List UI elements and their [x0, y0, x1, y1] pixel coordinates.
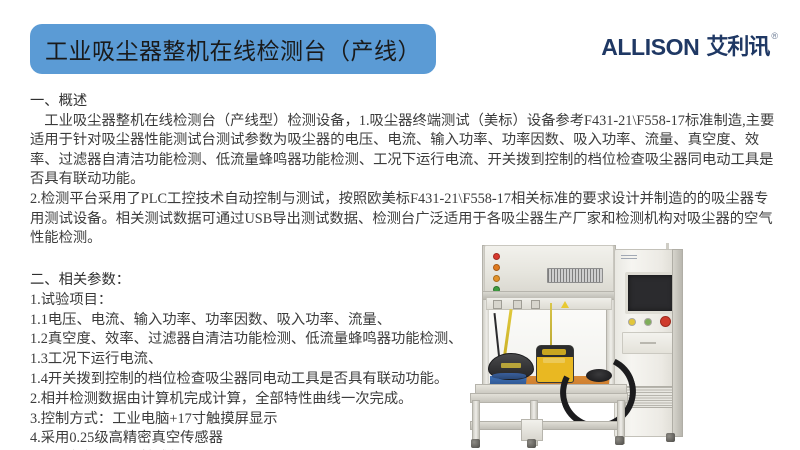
- photo-upper-control-hood: [484, 245, 614, 295]
- photo-socket-icon: [493, 300, 502, 309]
- cabinet-button-green-icon: [644, 318, 652, 326]
- photo-touchscreen-display: [625, 272, 677, 314]
- photo-cabinet-side-edge: [672, 249, 683, 437]
- parameter-line: 1.试验项目：: [30, 291, 500, 311]
- photo-frame-rail: [470, 421, 624, 430]
- photo-indicator-lamp-stack: [493, 253, 500, 293]
- photo-socket-icon: [531, 300, 540, 309]
- photo-cabinet-nameplate: [621, 255, 637, 261]
- parameter-line: 4.采用0.25级高精密真空传感器: [30, 429, 500, 449]
- photo-caster-wheel: [527, 439, 536, 448]
- overview-text-block: 一、概述 工业吸尘器整机在线检测台（产线型）检测设备，1.吸尘器终端测试（美标）…: [30, 92, 778, 249]
- overview-heading: 一、概述: [30, 92, 778, 112]
- page-title-band: 工业吸尘器整机在线检测台（产线）: [30, 24, 436, 74]
- parameter-line: 1.4开关拨到控制的档位检查吸尘器同电动工具是否具有联动功能。: [30, 370, 500, 390]
- photo-vacuum-label: [501, 363, 521, 368]
- photo-cabinet-drawer: [622, 332, 676, 354]
- cabinet-button-yellow-icon: [628, 318, 636, 326]
- photo-cabinet-button-row: [628, 316, 671, 327]
- indicator-lamp-amber2-icon: [493, 275, 500, 282]
- photo-caster-wheel: [615, 436, 624, 445]
- parameter-line: 2.相并检测数据由计算机完成计算，全部特性曲线一次完成。: [30, 390, 500, 410]
- parameter-line: 1.2真空度、效率、过滤器自清洁功能检测、低流量蜂鸣器功能检测、: [30, 330, 500, 350]
- parameter-line: 1.3工况下运行电流、: [30, 350, 500, 370]
- slide-page: 工业吸尘器整机在线检测台（产线） ALLISON 艾利讯 ® 一、概述 工业吸尘…: [0, 0, 800, 450]
- emergency-stop-button-icon: [660, 316, 671, 327]
- page-title: 工业吸尘器整机在线检测台（产线）: [45, 32, 421, 66]
- parameters-heading: 二、相关参数：: [30, 271, 500, 291]
- parameter-line: 3.控制方式：工业电脑+17寸触摸屏显示: [30, 410, 500, 430]
- photo-frame-bracket: [521, 419, 543, 441]
- indicator-lamp-red-icon: [493, 253, 500, 260]
- photo-caster-wheel: [666, 433, 675, 442]
- parameter-line: 1.1电压、电流、输入功率、功率因数、吸入功率、流量、: [30, 311, 500, 331]
- company-logo: ALLISON 艾利讯 ®: [601, 36, 778, 70]
- parameters-text-block: 二、相关参数： 1.试验项目： 1.1电压、电流、输入功率、功率因数、吸入功率、…: [30, 271, 500, 450]
- overview-paragraph-1: 工业吸尘器整机在线检测台（产线型）检测设备，1.吸尘器终端测试（美标）设备参考F…: [30, 112, 778, 190]
- overview-paragraph-2: 2.检测平台采用了PLC工控技术自动控制与测试，按照欧美标F431-21\F55…: [30, 190, 778, 249]
- photo-vent-grille: [547, 268, 603, 283]
- registered-trademark-icon: ®: [771, 32, 778, 41]
- photo-socket-strip: [486, 298, 612, 310]
- logo-wordmark-chinese: 艾利讯: [706, 36, 769, 58]
- photo-caster-wheel: [471, 439, 480, 448]
- photo-socket-icon: [513, 300, 522, 309]
- logo-wordmark-latin: ALLISON: [601, 36, 699, 59]
- photo-vacuum-base-dark: [492, 373, 526, 379]
- warning-triangle-icon: [561, 301, 569, 308]
- indicator-lamp-amber-icon: [493, 264, 500, 271]
- product-photo: [470, 243, 800, 450]
